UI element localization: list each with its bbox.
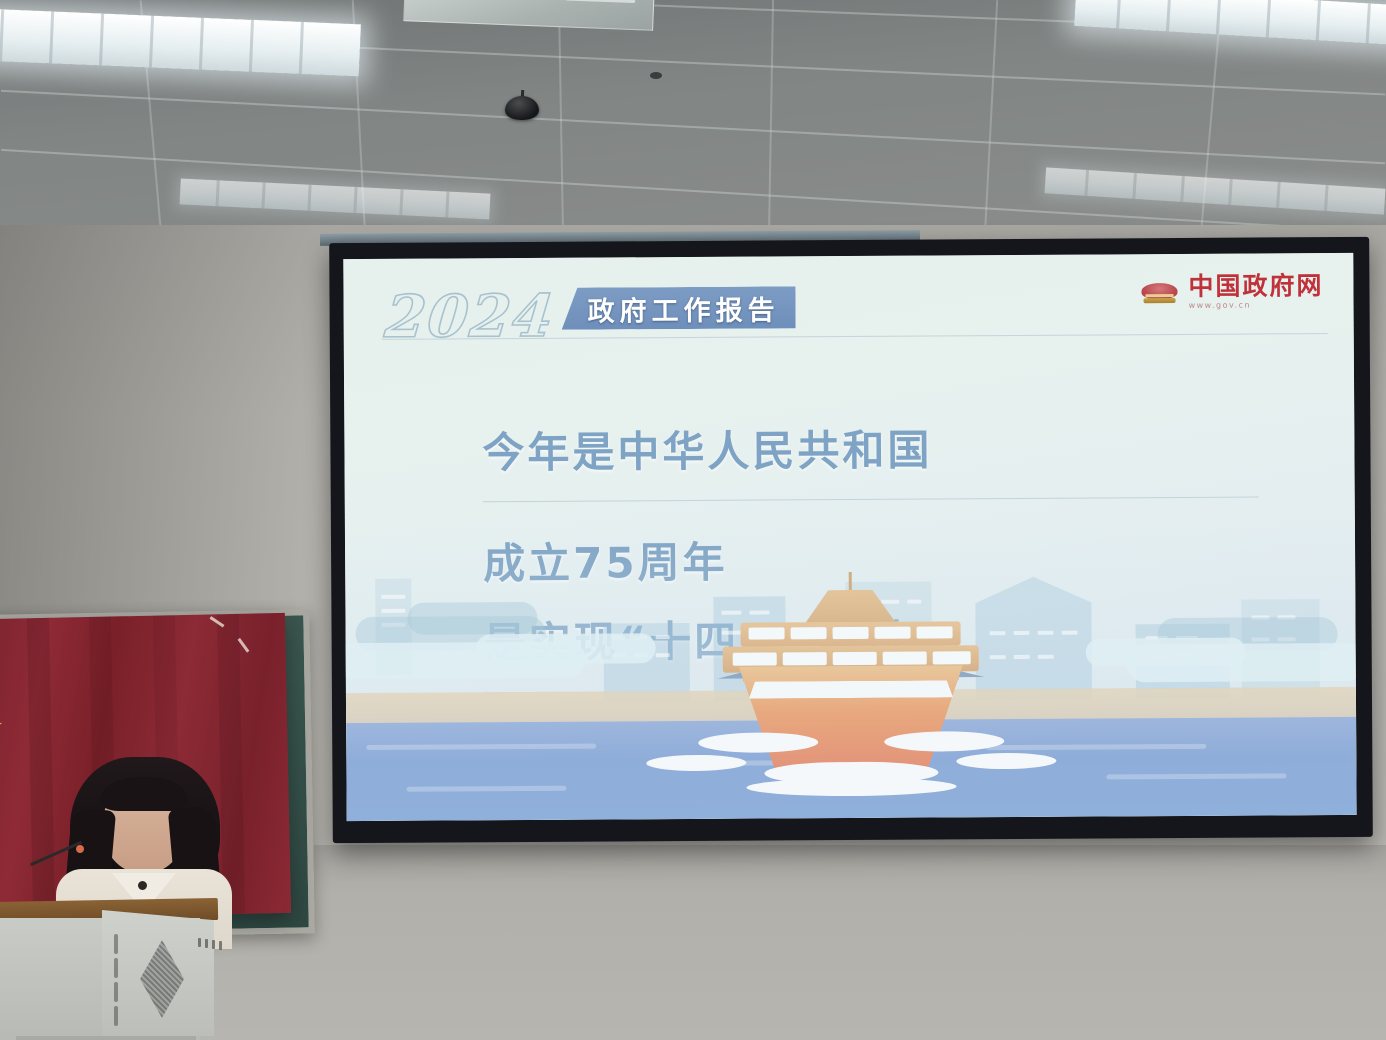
projection-screen: 2024 政府工作报告 中国政府网 www.gov.cn 今年是中华人民共和国 … xyxy=(329,237,1373,843)
cloud xyxy=(407,602,537,635)
fluorescent-light-panel xyxy=(0,8,361,77)
national-emblem-icon xyxy=(1139,279,1179,305)
slide-canvas: 2024 政府工作报告 中国政府网 www.gov.cn 今年是中华人民共和国 … xyxy=(343,253,1356,821)
cloud xyxy=(476,633,656,664)
slide-banner-title: 政府工作报告 xyxy=(561,286,795,329)
gov-logo: 中国政府网 www.gov.cn xyxy=(1139,273,1323,310)
screenshot-root: 计 39 2 xyxy=(0,0,1386,1040)
year-watermark: 2024 xyxy=(382,282,558,351)
classical-building-silhouette xyxy=(975,603,1092,700)
building-pediment xyxy=(975,577,1091,604)
cloud xyxy=(1086,638,1246,667)
lectern xyxy=(0,900,228,1040)
fluorescent-light-panel xyxy=(1045,167,1386,214)
air-vent xyxy=(403,0,655,31)
ship-bridge xyxy=(804,590,896,625)
gov-logo-name-cn: 中国政府网 xyxy=(1188,273,1323,299)
ship-mast xyxy=(849,572,852,592)
fluorescent-light-panel xyxy=(180,178,491,219)
fluorescent-light-panel xyxy=(1074,0,1386,46)
gov-logo-name-en: www.gov.cn xyxy=(1189,301,1324,310)
dome-camera-icon xyxy=(505,96,539,120)
ship-sailing-illustration xyxy=(345,515,1357,821)
smoke-detector-icon xyxy=(650,72,662,79)
flag-star-icon xyxy=(0,707,4,754)
slide-text-line: 今年是中华人民共和国 xyxy=(482,426,932,478)
suspended-tile-ceiling xyxy=(0,0,1386,238)
microphone-tip xyxy=(76,845,84,853)
ship-upper-deck xyxy=(741,621,961,646)
